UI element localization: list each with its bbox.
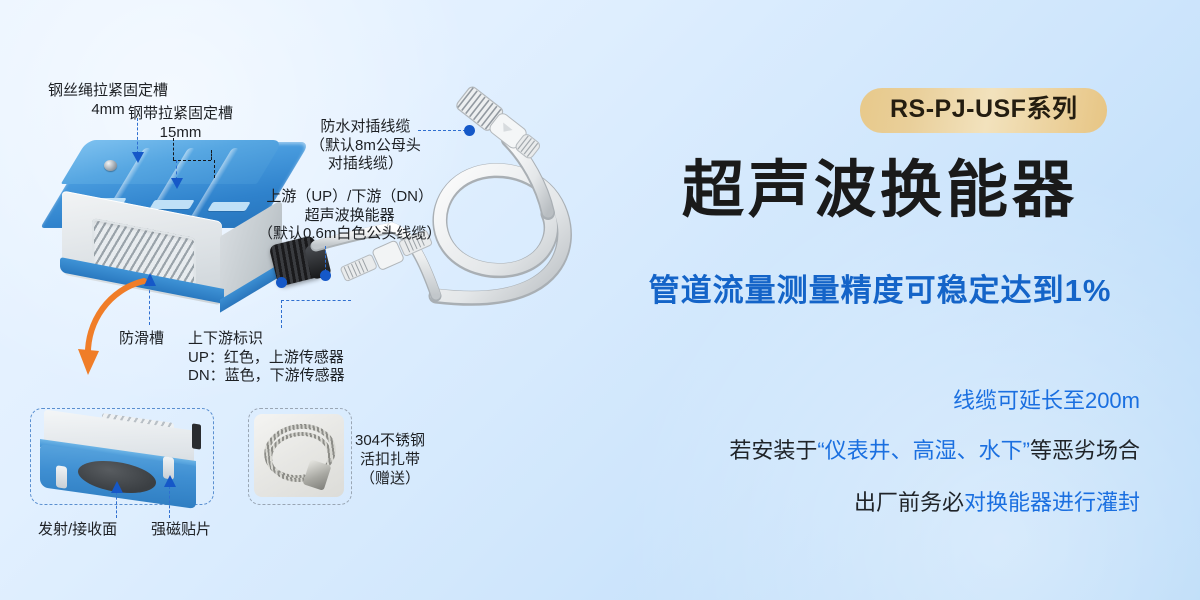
leader-arrow-wire-rope-slot xyxy=(131,150,145,164)
callout-transducer: 上游（UP）/下游（DN） 超声波换能器 （默认0.6m白色公头线缆） xyxy=(258,188,441,244)
leader-line-face xyxy=(116,492,117,518)
callout-anti-slip-groove: 防滑槽 xyxy=(119,330,164,349)
product-banner: 钢丝绳拉紧固定槽 4mm 钢带拉紧固定槽 15mm 防水对插线缆 （默认8m公母… xyxy=(0,0,1200,600)
bracket-band-right xyxy=(211,150,212,160)
callout-wire-rope-slot-line1: 钢丝绳拉紧固定槽 xyxy=(48,82,168,101)
magnet-patch-left xyxy=(56,465,67,489)
leader-line-magnet xyxy=(169,486,170,518)
callout-waterproof-cable: 防水对插线缆 （默认8m公母头 对插线缆） xyxy=(310,118,421,174)
callout-clamp-line1: 304不锈钢 xyxy=(355,432,425,451)
leader-arrow-anti-slip xyxy=(143,272,157,288)
subtitle: 管道流量测量精度可稳定达到1% xyxy=(580,265,1180,310)
clamp-photo xyxy=(254,414,344,497)
product-diagram: 钢丝绳拉紧固定槽 4mm 钢带拉紧固定槽 15mm 防水对插线缆 （默认8m公母… xyxy=(0,0,600,600)
inset-label-face: 发射/接收面 xyxy=(38,521,117,540)
callout-anti-slip-groove-line1: 防滑槽 xyxy=(119,330,164,349)
series-badge: RS-PJ-USF系列 xyxy=(860,88,1107,133)
leader-line-anti-slip xyxy=(149,285,150,325)
marketing-panel: RS-PJ-USF系列 超声波换能器 管道流量测量精度可稳定达到1% 线缆可延长… xyxy=(580,0,1200,600)
leader-line-waterproof-cable xyxy=(418,130,466,131)
inset-label-magnet: 强磁贴片 xyxy=(151,521,211,540)
feature-harsh-prefix: 若安装于 xyxy=(729,438,817,463)
leader-dot-ud-marking xyxy=(276,277,287,288)
callout-transducer-line1: 上游（UP）/下游（DN） xyxy=(258,188,441,207)
feature-potting-prefix: 出厂前务必 xyxy=(854,490,964,515)
leader-arrow-band-slot xyxy=(170,176,184,190)
leader-dot-waterproof-cable xyxy=(464,125,475,136)
leader-line-ud-marking-h xyxy=(281,300,351,301)
feature-line-harsh-env: 若安装于“仪表井、高湿、水下”等恶劣场合 xyxy=(540,438,1140,464)
callout-steel-band-slot: 钢带拉紧固定槽 15mm xyxy=(128,105,233,142)
bracket-band-bottom xyxy=(173,160,211,161)
leader-dot-transducer xyxy=(320,270,331,281)
leader-arrow-magnet xyxy=(163,474,177,489)
callout-steel-band-slot-line1: 钢带拉紧固定槽 xyxy=(128,105,233,124)
leader-line-transducer xyxy=(325,246,326,272)
bracket-band-tail xyxy=(214,160,215,178)
callout-clamp-line2: 活扣扎带 xyxy=(355,451,425,470)
page-title: 超声波换能器 xyxy=(580,158,1180,223)
callout-transducer-line2: 超声波换能器 xyxy=(258,207,441,226)
feature-harsh-suffix: 等恶劣场合 xyxy=(1030,438,1140,463)
callout-ud-marking-title: 上下游标识 xyxy=(188,330,370,349)
feature-line-potting: 出厂前务必对换能器进行灌封 xyxy=(540,490,1140,516)
callout-waterproof-cable-line2: （默认8m公母头 xyxy=(310,137,421,156)
rotation-arrow-icon xyxy=(70,275,160,380)
callout-ud-marking: 上下游标识 UP：红色，上游传感器 DN：蓝色，下游传感器 xyxy=(188,330,370,386)
feature-potting-highlight: 对换能器进行灌封 xyxy=(964,490,1140,515)
feature-line-cable-length: 线缆可延长至200m xyxy=(540,388,1140,414)
callout-clamp: 304不锈钢 活扣扎带 （赠送） xyxy=(355,432,425,488)
callout-waterproof-cable-line3: 对插线缆） xyxy=(310,155,421,174)
callout-transducer-line3: （默认0.6m白色公头线缆） xyxy=(258,225,441,244)
leader-arrow-face xyxy=(110,480,124,495)
leader-line-ud-marking xyxy=(281,300,282,328)
callout-steel-band-slot-line2: 15mm xyxy=(128,124,233,143)
inset-device-gland xyxy=(192,423,201,449)
feature-harsh-highlight: “仪表井、高湿、水下” xyxy=(817,438,1030,463)
callout-ud-marking-dn: DN：蓝色，下游传感器 xyxy=(188,367,370,386)
callout-waterproof-cable-line1: 防水对插线缆 xyxy=(310,118,421,137)
callout-ud-marking-up: UP：红色，上游传感器 xyxy=(188,349,370,368)
callout-clamp-line3: （赠送） xyxy=(355,470,425,489)
